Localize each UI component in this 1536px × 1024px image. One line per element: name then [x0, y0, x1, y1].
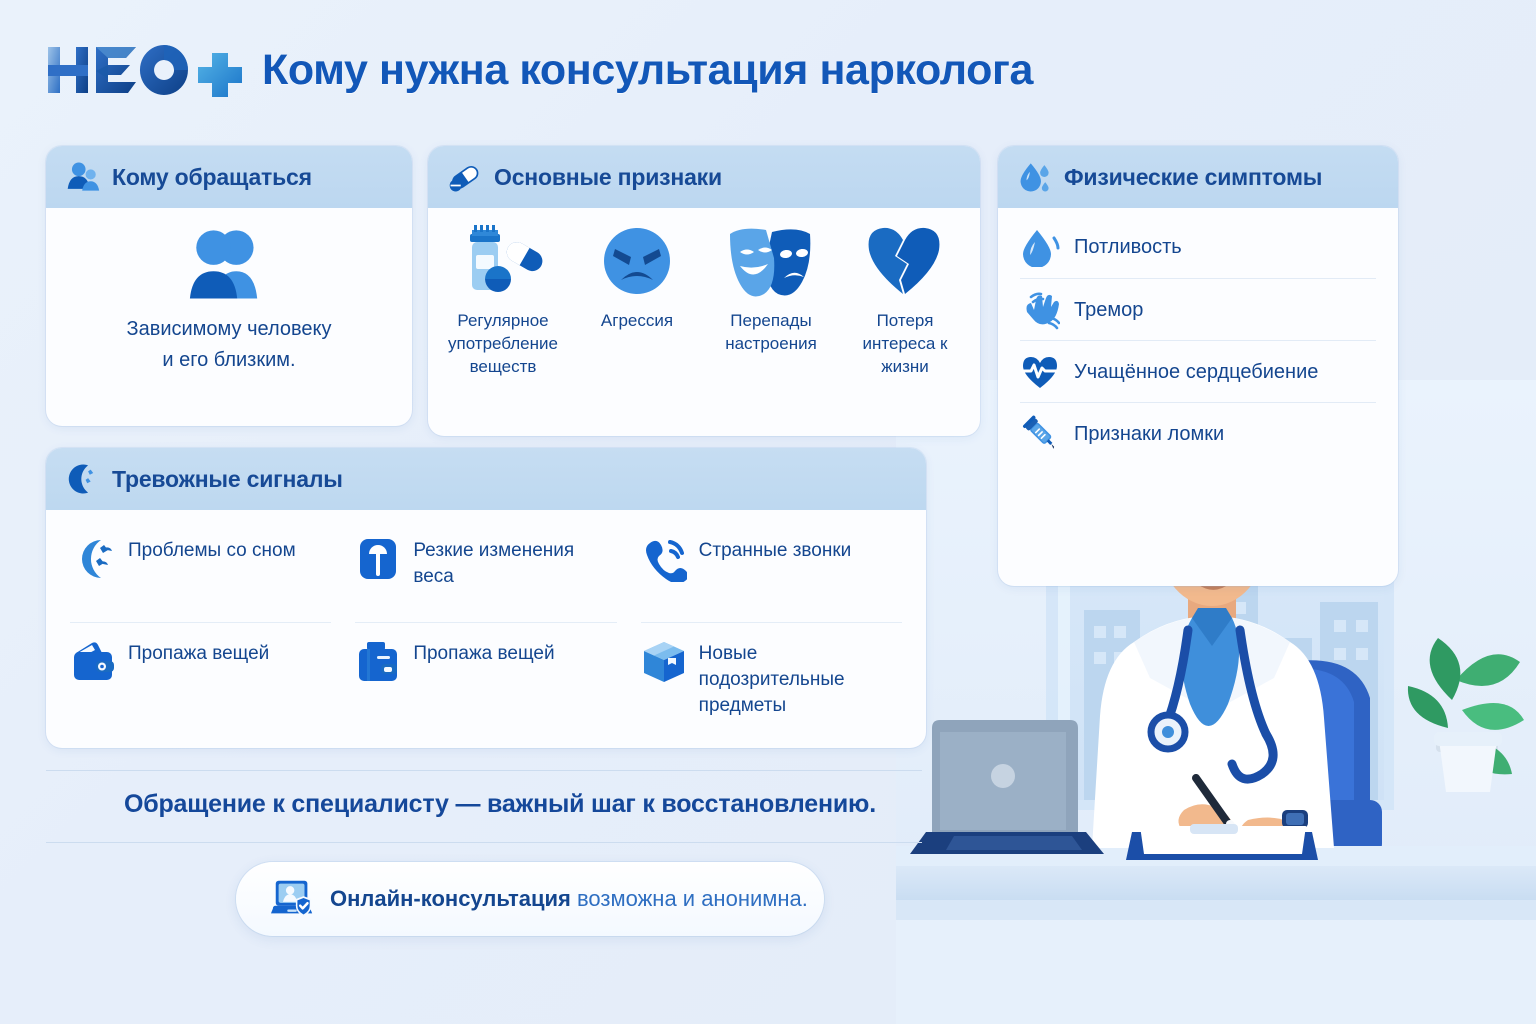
- alert-item: Пропажа вещей: [70, 622, 331, 734]
- shaking-hand-icon: [1020, 290, 1060, 330]
- symptom-label: Тремор: [1074, 297, 1143, 323]
- sign-label: Перепады настроения: [706, 310, 836, 356]
- panel-who-text: Зависимому человеку и его близким.: [127, 314, 332, 376]
- panel-who-title: Кому обращаться: [112, 164, 312, 191]
- page-header: Кому нужна консультация нарколога: [46, 34, 1033, 106]
- broken-heart-icon: [860, 222, 950, 300]
- theatre-masks-icon: [726, 222, 816, 300]
- alerts-grid: Проблемы со сном Резкие изменения веса: [70, 520, 902, 734]
- panel-signs-body: Регулярное употребление веществ Агрессия: [428, 208, 980, 389]
- panel-alerts-title: Тревожные сигналы: [112, 466, 343, 493]
- online-consult-soft: возможна и анонимна.: [571, 886, 808, 911]
- online-consult-icon: [270, 876, 316, 922]
- symptom-row: Учащённое сердцебиение: [1020, 340, 1376, 402]
- symptom-row: Признаки ломки: [1020, 402, 1376, 464]
- online-consult-pill[interactable]: Онлайн-консультация возможна и анонимна.: [236, 862, 824, 936]
- desk: [896, 846, 1536, 1024]
- panel-physical-body: Потливость Тремор: [998, 208, 1398, 474]
- alert-label: Странные звонки: [699, 536, 852, 564]
- panel-physical-title: Физические симптомы: [1064, 164, 1322, 191]
- symptom-row: Потливость: [1020, 216, 1376, 278]
- who-text-line1: Зависимому человеку: [127, 314, 332, 345]
- neo-plus-logo: [46, 41, 244, 99]
- signs-list: Регулярное употребление веществ Агрессия: [438, 222, 970, 379]
- laptop: [910, 720, 1104, 854]
- moon-icon: [66, 462, 100, 496]
- symptom-label: Учащённое сердцебиение: [1074, 359, 1318, 385]
- footer-statement: Обращение к специалисту — важный шаг к в…: [124, 790, 924, 834]
- symptom-row: Тремор: [1020, 278, 1376, 340]
- sign-label: Регулярное употребление веществ: [438, 310, 568, 379]
- alert-label: Пропажа вещей: [128, 639, 269, 667]
- sign-item: Перепады настроения: [706, 222, 836, 356]
- panel-who-body: Зависимому человеку и его близким.: [46, 208, 412, 396]
- wallet-icon: [70, 639, 116, 685]
- alert-label: Новые подозрительные предметы: [699, 639, 902, 720]
- heart-pulse-icon: [1020, 352, 1060, 392]
- sign-item: Агрессия: [572, 222, 702, 333]
- people-icon: [66, 160, 100, 194]
- package-box-icon: [641, 639, 687, 685]
- alert-label: Проблемы со сном: [128, 536, 296, 564]
- panel-signs-title: Основные признаки: [494, 164, 722, 191]
- droplet-icon: [1020, 227, 1060, 267]
- sign-item: Потеря интереса к жизни: [840, 222, 970, 379]
- panel-warning-signals: Тревожные сигналы Проблемы со сном: [46, 448, 926, 748]
- phone-ring-icon: [641, 536, 687, 582]
- two-persons-icon: [179, 226, 279, 302]
- moon-sleep-icon: [70, 536, 116, 582]
- symptom-label: Признаки ломки: [1074, 421, 1224, 447]
- who-text-line2: и его близким.: [127, 345, 332, 376]
- sign-label: Потеря интереса к жизни: [840, 310, 970, 379]
- panel-physical-header: Физические симптомы: [998, 146, 1398, 208]
- alert-label: Пропажа вещей: [413, 639, 554, 667]
- weight-scale-icon: [355, 536, 401, 582]
- panel-who-to-contact: Кому обращаться Зависимому человеку и ег…: [46, 146, 412, 426]
- online-consult-strong: Онлайн-консультация: [330, 886, 571, 911]
- online-consult-text: Онлайн-консультация возможна и анонимна.: [330, 886, 808, 912]
- symptom-label: Потливость: [1074, 234, 1182, 260]
- angry-face-icon: [592, 222, 682, 300]
- alert-label: Резкие изменения веса: [413, 536, 616, 590]
- clipboard: [1126, 824, 1318, 860]
- panel-physical-symptoms: Физические симптомы Потливость: [998, 146, 1398, 586]
- sign-item: Регулярное употребление веществ: [438, 222, 568, 379]
- panel-who-header: Кому обращаться: [46, 146, 412, 208]
- alert-item: Новые подозрительные предметы: [641, 622, 902, 734]
- page-title: Кому нужна консультация нарколога: [262, 49, 1033, 92]
- alert-item: Резкие изменения веса: [355, 520, 616, 622]
- footer-divider-top: [46, 770, 922, 771]
- footer-divider-bottom: [46, 842, 922, 843]
- panel-alerts-body: Проблемы со сном Резкие изменения веса: [46, 510, 926, 748]
- sign-label: Агрессия: [601, 310, 673, 333]
- panel-main-signs: Основные признаки: [428, 146, 980, 436]
- panel-signs-header: Основные признаки: [428, 146, 980, 208]
- pill-bottle-icon: [458, 222, 548, 300]
- briefcase-icon: [355, 639, 401, 685]
- alert-item: Проблемы со сном: [70, 520, 331, 622]
- alert-item: Странные звонки: [641, 520, 902, 622]
- panel-alerts-header: Тревожные сигналы: [46, 448, 926, 510]
- syringe-icon: [1020, 414, 1060, 454]
- water-drops-icon: [1018, 160, 1052, 194]
- infographic-root: Кому нужна консультация нарколога Кому о…: [0, 0, 1536, 1024]
- pills-icon: [448, 160, 482, 194]
- alert-item: Пропажа вещей: [355, 622, 616, 734]
